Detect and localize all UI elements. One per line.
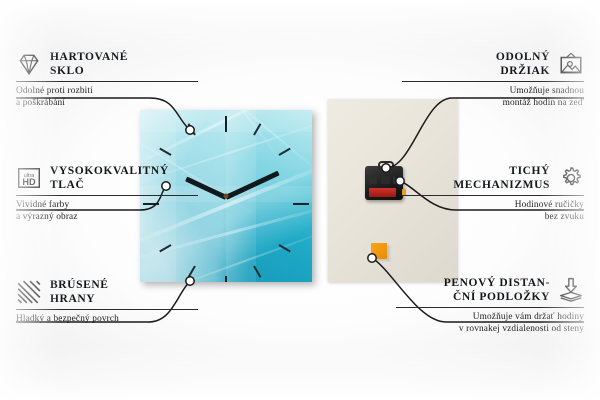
feature-hardened-glass[interactable]: HARTOVANÉ SKLO Odolné proti rozbití a po… [16, 50, 198, 110]
feature-title: PENOVÝ DISTAN- ČNÍ PODLOŽKY [444, 276, 550, 304]
feature-title-line2: ČNÍ PODLOŽKY [444, 290, 550, 304]
feature-title-line2: SKLO [50, 64, 128, 78]
feature-title-line1: VYSOKOKVALITNÝ [50, 164, 169, 178]
tick-3 [293, 203, 309, 205]
feature-title-line2: TLAČ [50, 178, 169, 192]
feature-desc-line2: a poškrábání [16, 97, 198, 109]
feature-desc-line2: v rovnakej vzdialenosti od steny [396, 323, 584, 335]
feature-title-line2: DRŽIAK [496, 64, 550, 78]
feature-description: Umožňuje vám držať hodiny v rovnakej vzd… [396, 311, 584, 336]
feature-title: TICHÝ MECHANIZMUS [453, 164, 550, 192]
feature-foam-spacers[interactable]: PENOVÝ DISTAN- ČNÍ PODLOŽKY Umožňuje vám… [396, 276, 584, 336]
ultra-hd-icon: ultra HD [16, 165, 42, 191]
feature-divider [402, 81, 584, 82]
feature-description: Hodinové ručičky bez zvuku [402, 199, 584, 224]
infographic-canvas: HARTOVANÉ SKLO Odolné proti rozbití a po… [0, 0, 600, 400]
feature-title: VYSOKOKVALITNÝ TLAČ [50, 164, 169, 192]
feature-silent-mechanism[interactable]: TICHÝ MECHANIZMUS Hodinové ručičky bez z… [402, 164, 584, 224]
foam-pad-shadow [387, 246, 391, 262]
feature-desc-line2: montáž hodin na zeď [402, 97, 584, 109]
feature-beveled-edges[interactable]: BRÚSENÉ HRANY Hladký a bezpečný povrch [16, 278, 198, 325]
feature-divider [16, 195, 198, 196]
feature-desc-line1: Vividné farby [16, 199, 198, 211]
feature-title-line1: ODOLNÝ [496, 50, 550, 64]
feature-title: HARTOVANÉ SKLO [50, 50, 128, 78]
feature-desc-line1: Odolné proti rozbití [16, 85, 198, 97]
battery [369, 188, 396, 197]
feature-description: Vividné farby a výrazný obraz [16, 199, 198, 224]
feature-title: ODOLNÝ DRŽIAK [496, 50, 550, 78]
clock-center-cap [224, 194, 229, 199]
gear-icon [558, 165, 584, 191]
feature-heading: ultra HD VYSOKOKVALITNÝ TLAČ [16, 164, 198, 192]
feature-desc-line1: Umožňuje vám držať hodiny [396, 311, 584, 323]
feature-desc-line1: Umožňuje snadnou [402, 85, 584, 97]
beveled-edges-icon [16, 279, 42, 305]
feature-title-line1: PENOVÝ DISTAN- [444, 276, 550, 290]
foam-spacer-pad [371, 243, 387, 259]
feature-heading: HARTOVANÉ SKLO [16, 50, 198, 78]
clock-mechanism [365, 166, 403, 200]
feature-description: Odolné proti rozbití a poškrábání [16, 85, 198, 110]
feature-title-line1: TICHÝ [453, 164, 550, 178]
feature-divider [16, 81, 198, 82]
diamond-icon [16, 51, 42, 77]
tick-12 [225, 116, 227, 132]
feature-divider [16, 309, 198, 310]
feature-heading: PENOVÝ DISTAN- ČNÍ PODLOŽKY [396, 276, 584, 304]
feature-durable-holder[interactable]: ODOLNÝ DRŽIAK Umožňuje snadnou montáž ho… [402, 50, 584, 110]
feature-heading: BRÚSENÉ HRANY [16, 278, 198, 306]
feature-divider [396, 307, 584, 308]
feature-description: Hladký a bezpečný povrch [16, 313, 198, 325]
mechanism-detail-center [381, 176, 390, 184]
tick-6 [225, 276, 227, 282]
feature-heading: TICHÝ MECHANIZMUS [402, 164, 584, 192]
feature-title-line1: HARTOVANÉ [50, 50, 128, 64]
feature-title-line2: HRANY [50, 292, 109, 306]
feature-title: BRÚSENÉ HRANY [50, 278, 109, 306]
feature-desc-line1: Hodinové ručičky [402, 199, 584, 211]
feature-desc-line1: Hladký a bezpečný povrch [16, 313, 198, 325]
feature-title-line2: MECHANIZMUS [453, 178, 550, 192]
feature-desc-line2: bez zvuku [402, 211, 584, 223]
foam-spacer-icon [558, 277, 584, 303]
feature-desc-line2: a výrazný obraz [16, 211, 198, 223]
feature-title-line1: BRÚSENÉ [50, 278, 109, 292]
feature-divider [402, 195, 584, 196]
feature-description: Umožňuje snadnou montáž hodin na zeď [402, 85, 584, 110]
feature-high-quality-print[interactable]: ultra HD VYSOKOKVALITNÝ TLAČ Vividné far… [16, 164, 198, 224]
hanging-frame-icon [558, 51, 584, 77]
svg-text:HD: HD [22, 177, 36, 187]
mechanism-hanger-lug [378, 161, 394, 170]
mechanism-detail-right [393, 177, 400, 184]
feature-heading: ODOLNÝ DRŽIAK [402, 50, 584, 78]
mechanism-detail-left [369, 177, 377, 184]
